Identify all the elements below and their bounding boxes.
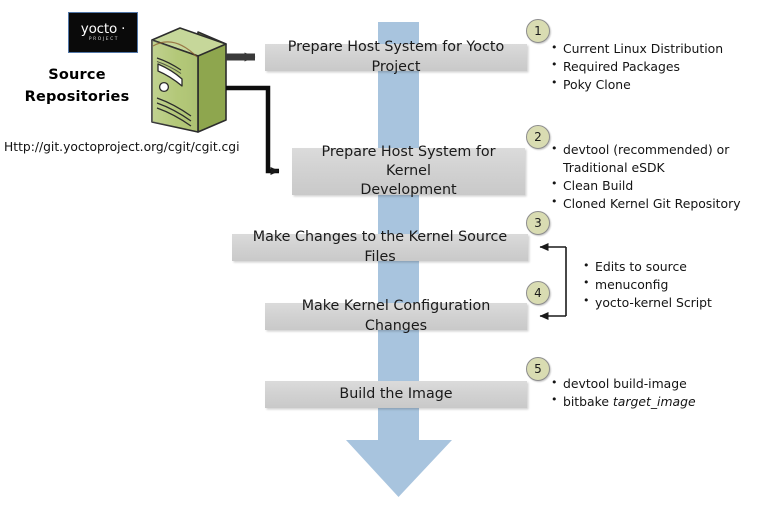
step-badge-5-number: 5 bbox=[534, 362, 542, 376]
process-box-step-2-label-line1: Prepare Host System for Kernel bbox=[300, 143, 517, 182]
process-box-step-4[interactable]: Make Kernel Configuration Changes bbox=[265, 303, 527, 330]
source-repositories-url: Http://git.yoctoproject.org/cgit/cgit.cg… bbox=[4, 140, 234, 154]
process-box-step-2[interactable]: Prepare Host System for Kernel Developme… bbox=[292, 148, 525, 195]
process-box-step-2-label-line2: Development bbox=[360, 181, 456, 200]
list-item: menuconfig bbox=[583, 276, 712, 294]
bullet-list-step-1: Current Linux Distribution Required Pack… bbox=[551, 40, 723, 94]
step-badge-2-number: 2 bbox=[534, 130, 542, 144]
step-badge-3: 3 bbox=[526, 211, 550, 235]
bullet-list-step-2: devtool (recommended) or Traditional eSD… bbox=[551, 141, 741, 213]
list-item: Required Packages bbox=[551, 58, 723, 76]
list-item: Poky Clone bbox=[551, 76, 723, 94]
process-box-step-3-label: Make Changes to the Kernel Source Files bbox=[240, 228, 520, 267]
step-badge-2: 2 bbox=[526, 125, 550, 149]
step-badge-1: 1 bbox=[526, 19, 550, 43]
process-box-step-1[interactable]: Prepare Host System for Yocto Project bbox=[265, 44, 527, 71]
step-badge-3-number: 3 bbox=[534, 216, 542, 230]
list-item-continuation: Traditional eSDK bbox=[551, 159, 741, 177]
step-badge-5: 5 bbox=[526, 357, 550, 381]
list-item: Cloned Kernel Git Repository bbox=[551, 195, 741, 213]
source-repositories-label: Source Repositories bbox=[14, 64, 140, 109]
process-box-step-1-label: Prepare Host System for Yocto Project bbox=[273, 38, 519, 77]
step-badge-4: 4 bbox=[526, 281, 550, 305]
step-badge-1-number: 1 bbox=[534, 24, 542, 38]
yocto-logo-subtext: PROJECT bbox=[87, 38, 119, 42]
bitbake-command: bitbake bbox=[563, 394, 613, 409]
list-item: Current Linux Distribution bbox=[551, 40, 723, 58]
yocto-logo-wordmark: yocto · bbox=[81, 23, 125, 37]
process-box-step-3[interactable]: Make Changes to the Kernel Source Files bbox=[232, 234, 528, 261]
step-badge-4-number: 4 bbox=[534, 286, 542, 300]
yocto-kernel-workflow-diagram: yocto · PROJECT Source Repositories Http… bbox=[0, 0, 769, 517]
list-item: Edits to source bbox=[583, 258, 712, 276]
server-icon bbox=[136, 26, 232, 138]
bitbake-target-arg: target_image bbox=[613, 394, 696, 409]
list-item: Clean Build bbox=[551, 177, 741, 195]
list-item: devtool build-image bbox=[551, 375, 696, 393]
source-label-line1: Source bbox=[14, 64, 140, 86]
process-box-step-5[interactable]: Build the Image bbox=[265, 381, 527, 408]
bullet-list-steps-3-4: Edits to source menuconfig yocto-kernel … bbox=[583, 258, 712, 312]
list-item: devtool (recommended) or bbox=[551, 141, 741, 159]
source-label-line2: Repositories bbox=[14, 86, 140, 108]
process-box-step-4-label: Make Kernel Configuration Changes bbox=[273, 297, 519, 336]
yocto-project-logo: yocto · PROJECT bbox=[68, 12, 138, 53]
list-item: bitbake target_image bbox=[551, 393, 696, 411]
list-item: yocto-kernel Script bbox=[583, 294, 712, 312]
bullet-list-step-5: devtool build-image bitbake target_image bbox=[551, 375, 696, 411]
process-box-step-5-label: Build the Image bbox=[339, 385, 452, 404]
